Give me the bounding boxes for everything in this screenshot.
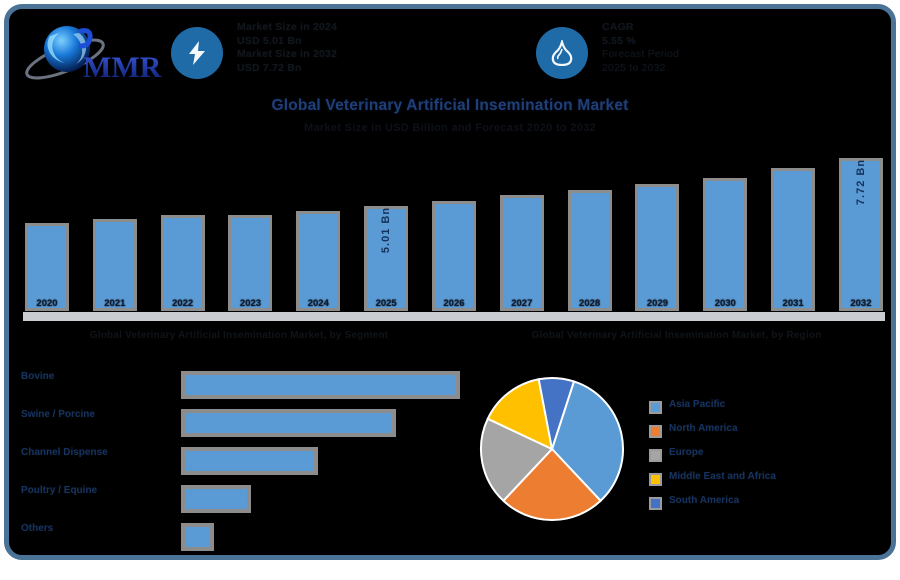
bar: 5.01 Bn — [364, 206, 408, 311]
bar-year-label: 2021 — [104, 298, 125, 309]
bar-value-label: 7.72 Bn — [855, 158, 867, 204]
kpi-cagr-text: CAGR 5.55 % Forecast Period 2025 to 2032 — [602, 21, 891, 75]
bar-year-label: 2027 — [511, 298, 532, 309]
segment-row: Poultry / Equine — [21, 485, 471, 515]
legend-label: South America — [669, 495, 739, 506]
legend-item: North America — [649, 421, 889, 445]
segment-row: Others — [21, 523, 471, 553]
legend-label: North America — [669, 423, 738, 434]
bar — [771, 168, 815, 311]
bar-year-label: 2029 — [647, 298, 668, 309]
bar-slot: 2030 — [701, 145, 749, 311]
segment-bar-fill — [185, 527, 210, 547]
bar-fill — [638, 187, 676, 308]
bar-fill — [706, 181, 744, 309]
segment-row: Bovine — [21, 371, 471, 401]
legend-label: Europe — [669, 447, 703, 458]
bar-fill — [28, 226, 66, 308]
legend-color-dot — [651, 403, 660, 412]
segment-bar — [181, 409, 396, 437]
kpi-line: Market Size in 2024 — [237, 21, 521, 35]
bar-year-label: 2024 — [308, 298, 329, 309]
kpi-line: Forecast Period — [602, 48, 891, 62]
bar — [432, 201, 476, 311]
kpi-line: USD 7.72 Bn — [237, 62, 521, 76]
lightning-bolt-icon — [171, 27, 223, 79]
segment-label: Swine / Porcine — [21, 409, 171, 421]
bar-slot: 2028 — [566, 145, 614, 311]
bar-fill — [164, 218, 202, 308]
segment-label: Bovine — [21, 371, 171, 383]
bar-slot: 2020 — [23, 145, 71, 311]
legend-swatch — [649, 473, 662, 486]
bar: 7.72 Bn — [839, 158, 883, 311]
kpi-line: USD 5.01 Bn — [237, 35, 521, 49]
bar-slot: 2022 — [159, 145, 207, 311]
bar — [635, 184, 679, 311]
segment-bar — [181, 523, 214, 551]
kpi-line: CAGR — [602, 21, 891, 35]
region-legend: Asia PacificNorth AmericaEuropeMiddle Ea… — [649, 397, 889, 517]
segment-label: Channel Dispense — [21, 447, 171, 459]
bar — [161, 215, 205, 311]
legend-color-dot — [651, 427, 660, 436]
bar-fill — [96, 222, 134, 308]
header: MMR Market Size in 2024 USD 5.01 Bn Mark… — [9, 9, 891, 97]
kpi-line: Market Size in 2032 — [237, 48, 521, 62]
bar-fill — [231, 218, 269, 308]
bar-fill — [435, 204, 473, 308]
bar-year-label: 2028 — [579, 298, 600, 309]
bar-slot: 2024 — [294, 145, 342, 311]
bar-year-label: 2032 — [850, 298, 871, 309]
bar-year-label: 2026 — [443, 298, 464, 309]
legend-swatch — [649, 449, 662, 462]
segment-bar-fill — [185, 489, 247, 509]
segment-label: Poultry / Equine — [21, 485, 171, 497]
logo-text: MMR — [83, 51, 162, 84]
infographic-frame: MMR Market Size in 2024 USD 5.01 Bn Mark… — [4, 4, 896, 560]
page-subtitle: Market Size in USD Billion and Forecast … — [9, 122, 891, 134]
bar — [296, 211, 340, 311]
bar-slot: 2023 — [226, 145, 274, 311]
mmr-logo: MMR — [23, 19, 163, 85]
legend-swatch — [649, 497, 662, 510]
region-section-heading: Global Veterinary Artificial Inseminatio… — [464, 329, 889, 342]
legend-color-dot — [651, 451, 660, 460]
bar-slot: 5.01 Bn2025 — [362, 145, 410, 311]
bar — [568, 190, 612, 311]
legend-color-dot — [651, 475, 660, 484]
bar — [228, 215, 272, 311]
segment-bar-fill — [185, 413, 392, 433]
bar — [500, 195, 544, 311]
segment-row: Swine / Porcine — [21, 409, 471, 439]
segment-bar-fill — [185, 451, 314, 471]
legend-item: South America — [649, 493, 889, 517]
bar-year-label: 2023 — [240, 298, 261, 309]
segment-bar-chart: BovineSwine / PorcineChannel DispensePou… — [21, 369, 471, 545]
bar-fill — [503, 198, 541, 308]
bar-value-label: 5.01 Bn — [380, 207, 392, 253]
region-pie-chart — [477, 374, 627, 524]
x-axis — [23, 312, 885, 321]
bar-fill — [299, 214, 337, 308]
kpi-market-size: Market Size in 2024 USD 5.01 Bn Market S… — [171, 17, 521, 91]
bar-slot: 2026 — [430, 145, 478, 311]
legend-item: Middle East and Africa — [649, 469, 889, 493]
segment-label: Others — [21, 523, 171, 535]
bar-year-label: 2030 — [715, 298, 736, 309]
market-size-bar-chart: 202020212022202320245.01 Bn2025202620272… — [23, 145, 885, 321]
bar-year-label: 2031 — [783, 298, 804, 309]
bar-year-label: 2020 — [36, 298, 57, 309]
bar-slot: 2031 — [769, 145, 817, 311]
bar-year-label: 2022 — [172, 298, 193, 309]
bar-slot: 2029 — [633, 145, 681, 311]
legend-swatch — [649, 401, 662, 414]
flame-drop-icon — [536, 27, 588, 79]
segment-bar — [181, 485, 251, 513]
kpi-market-size-text: Market Size in 2024 USD 5.01 Bn Market S… — [237, 21, 521, 75]
bar-slot: 2027 — [498, 145, 546, 311]
legend-label: Asia Pacific — [669, 399, 725, 410]
segment-bar-fill — [185, 375, 456, 395]
bar — [703, 178, 747, 312]
legend-item: Asia Pacific — [649, 397, 889, 421]
bar-fill — [774, 171, 812, 308]
bar-fill — [571, 193, 609, 308]
kpi-line: 5.55 % — [602, 35, 891, 49]
bar-slot: 2021 — [91, 145, 139, 311]
legend-swatch — [649, 425, 662, 438]
kpi-cagr: CAGR 5.55 % Forecast Period 2025 to 2032 — [536, 17, 891, 91]
page-title: Global Veterinary Artificial Inseminatio… — [9, 97, 891, 115]
segment-bar — [181, 371, 460, 399]
kpi-line: 2025 to 2032 — [602, 62, 891, 76]
bar-series: 202020212022202320245.01 Bn2025202620272… — [23, 145, 885, 311]
bar-slot: 7.72 Bn2032 — [837, 145, 885, 311]
legend-color-dot — [651, 499, 660, 508]
legend-label: Middle East and Africa — [669, 471, 776, 482]
bar-year-label: 2025 — [376, 298, 397, 309]
segment-section-heading: Global Veterinary Artificial Inseminatio… — [19, 329, 459, 342]
segment-row: Channel Dispense — [21, 447, 471, 477]
legend-item: Europe — [649, 445, 889, 469]
globe-logo-icon: MMR — [23, 19, 163, 85]
segment-bar — [181, 447, 318, 475]
